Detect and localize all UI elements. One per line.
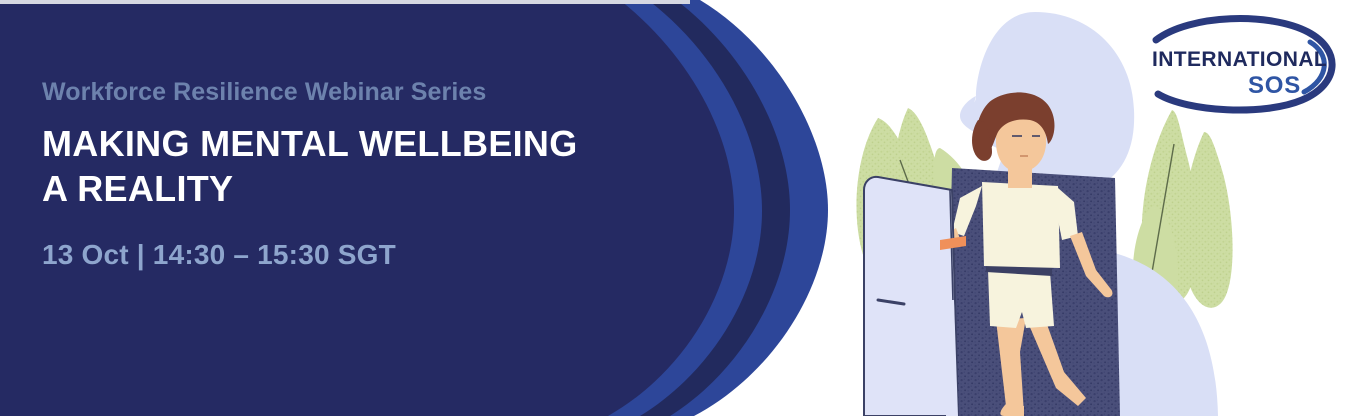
- series-eyebrow: Workforce Resilience Webinar Series: [42, 78, 742, 107]
- logo-line2: SOS: [1248, 72, 1301, 99]
- logo-line1: INTERNATIONAL: [1152, 48, 1327, 71]
- page-title: MAKING MENTAL WELLBEING A REALITY: [42, 121, 742, 211]
- international-sos-logo[interactable]: INTERNATIONAL SOS: [1138, 8, 1348, 118]
- event-datetime: 13 Oct | 14:30 – 15:30 SGT: [42, 239, 742, 271]
- banner-text-block: Workforce Resilience Webinar Series MAKI…: [42, 78, 742, 271]
- top-edge-strip: [0, 0, 690, 4]
- webinar-banner: INTERNATIONAL SOS Workforce Resilience W…: [0, 0, 1356, 416]
